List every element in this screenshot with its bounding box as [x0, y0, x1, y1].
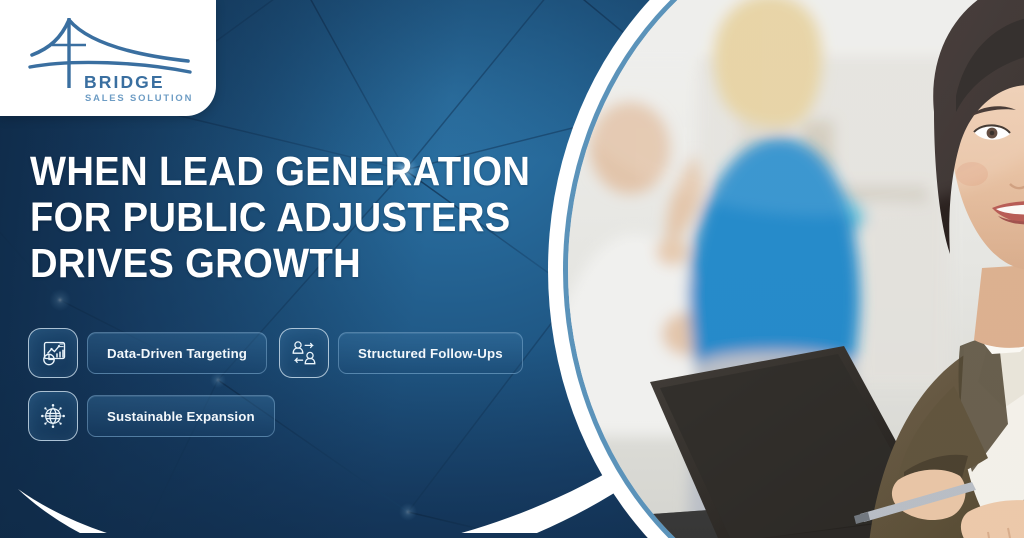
- hero-banner: BRIDGE SALES SOLUTIONS WHEN LEAD GENERAT…: [0, 0, 1024, 538]
- feature-badge-row-1: Data-Driven Targeting: [28, 328, 523, 378]
- analytics-dashboard-icon-tile[interactable]: [28, 328, 78, 378]
- hero-photo: [548, 0, 1024, 538]
- brand-tagline: SALES SOLUTIONS: [85, 92, 192, 103]
- feature-badge-row-2: Sustainable Expansion: [28, 391, 523, 441]
- feature-badge-label[interactable]: Data-Driven Targeting: [87, 332, 267, 374]
- businesswoman-laptop-photo: [568, 0, 1024, 538]
- feature-badge-sustainable-expansion[interactable]: Sustainable Expansion: [28, 391, 275, 441]
- headline-line-1: WHEN LEAD GENERATION: [30, 148, 530, 194]
- globe-network-icon: [38, 401, 68, 431]
- feature-badge-label[interactable]: Structured Follow-Ups: [338, 332, 523, 374]
- analytics-dashboard-icon: [38, 338, 68, 368]
- headline-line-3: DRIVES GROWTH: [30, 240, 530, 286]
- brand-name: BRIDGE: [84, 72, 165, 92]
- feature-badge-list: Data-Driven Targeting: [28, 328, 523, 454]
- feature-badge-data-driven-targeting[interactable]: Data-Driven Targeting: [28, 328, 267, 378]
- photo-image-clip: [568, 0, 1024, 538]
- globe-network-icon-tile[interactable]: [28, 391, 78, 441]
- people-exchange-icon-tile[interactable]: [279, 328, 329, 378]
- feature-badge-label[interactable]: Sustainable Expansion: [87, 395, 275, 437]
- bridge-icon: BRIDGE SALES SOLUTIONS: [28, 14, 192, 104]
- page-title: WHEN LEAD GENERATION FOR PUBLIC ADJUSTER…: [30, 148, 530, 286]
- headline-line-2: FOR PUBLIC ADJUSTERS: [30, 194, 530, 240]
- feature-badge-structured-follow-ups[interactable]: Structured Follow-Ups: [279, 328, 523, 378]
- people-exchange-icon: [289, 338, 319, 368]
- brand-logo-plate[interactable]: BRIDGE SALES SOLUTIONS: [0, 0, 216, 116]
